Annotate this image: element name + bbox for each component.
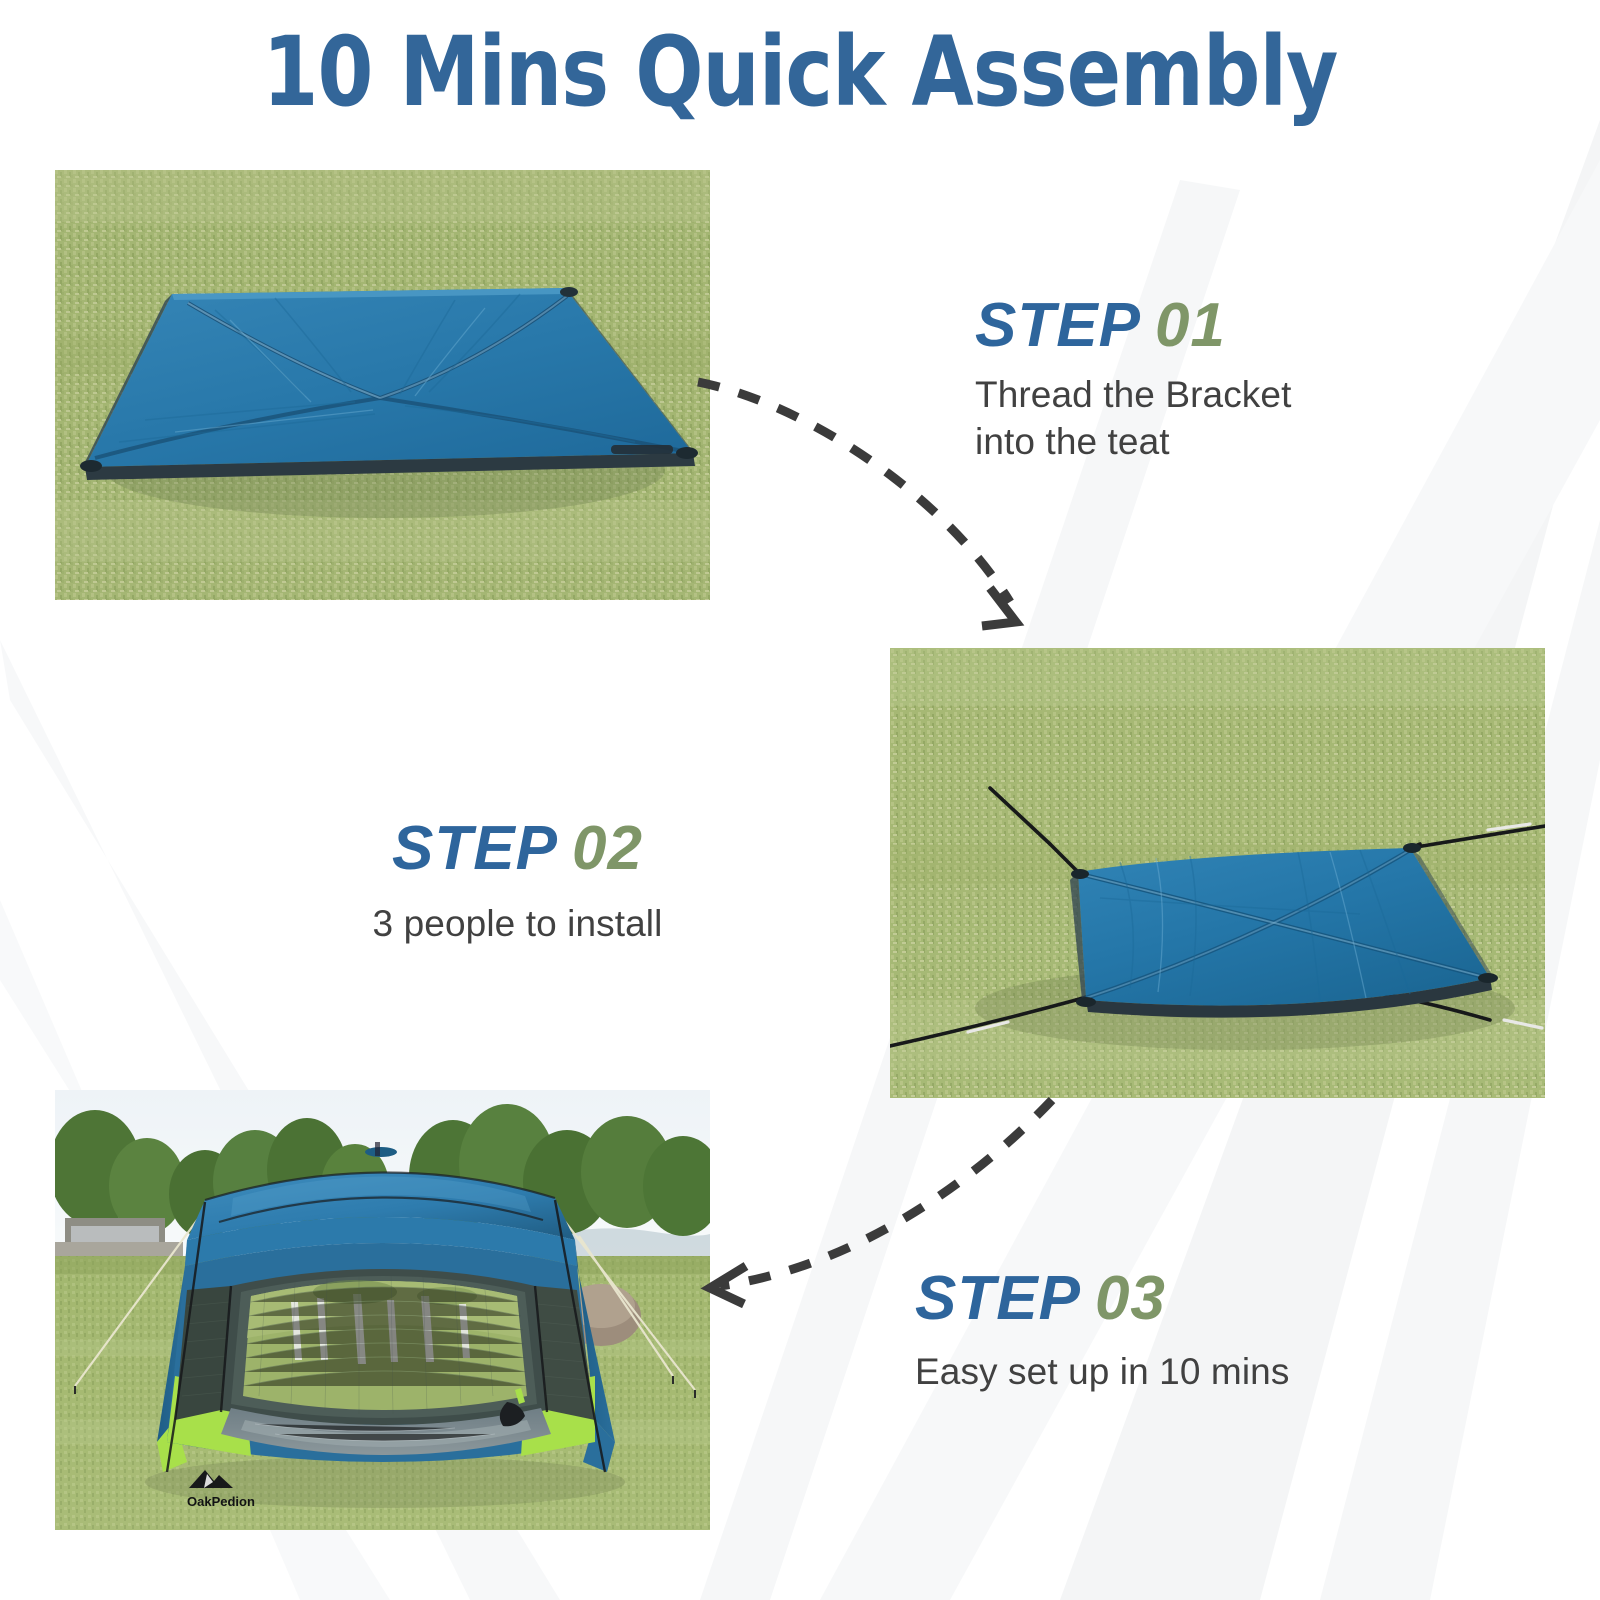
step-block-02: STEP02 3 people to install — [335, 818, 700, 947]
photo-tent-fully-assembled: OakPedion — [55, 1090, 710, 1530]
step-01-number: 01 — [1155, 291, 1226, 360]
step-01-description: Thread the Bracket into the teat — [975, 371, 1291, 466]
photo3-illustration: OakPedion — [55, 1090, 710, 1530]
step-block-01: STEP01 Thread the Bracket into the teat — [975, 295, 1291, 466]
step-01-heading: STEP01 — [975, 295, 1291, 357]
step-03-description: Easy set up in 10 mins — [915, 1348, 1289, 1395]
step-03-number: 03 — [1095, 1264, 1166, 1333]
step-02-line1: 3 people to install — [335, 900, 700, 947]
step-01-line2: into the teat — [975, 418, 1291, 465]
step-02-word: STEP — [392, 814, 558, 883]
step-block-03: STEP03 Easy set up in 10 mins — [915, 1268, 1289, 1395]
step-02-description: 3 people to install — [335, 900, 700, 947]
step-01-word: STEP — [975, 291, 1141, 360]
photo1-illustration — [55, 170, 710, 600]
step-03-word: STEP — [915, 1264, 1081, 1333]
photo-tent-flat-on-grass — [55, 170, 710, 600]
infographic-canvas: 10 Mins Quick Assembly — [0, 0, 1600, 1600]
photo-tent-with-poles-threaded — [890, 648, 1545, 1098]
photo2-illustration — [890, 648, 1545, 1098]
step-02-heading: STEP02 — [335, 818, 700, 880]
step-02-number: 02 — [572, 814, 643, 883]
step-03-line1: Easy set up in 10 mins — [915, 1348, 1289, 1395]
step-01-line1: Thread the Bracket — [975, 371, 1291, 418]
svg-text:OakPedion: OakPedion — [187, 1494, 255, 1509]
step-03-heading: STEP03 — [915, 1268, 1289, 1330]
page-title: 10 Mins Quick Assembly — [56, 22, 1544, 123]
